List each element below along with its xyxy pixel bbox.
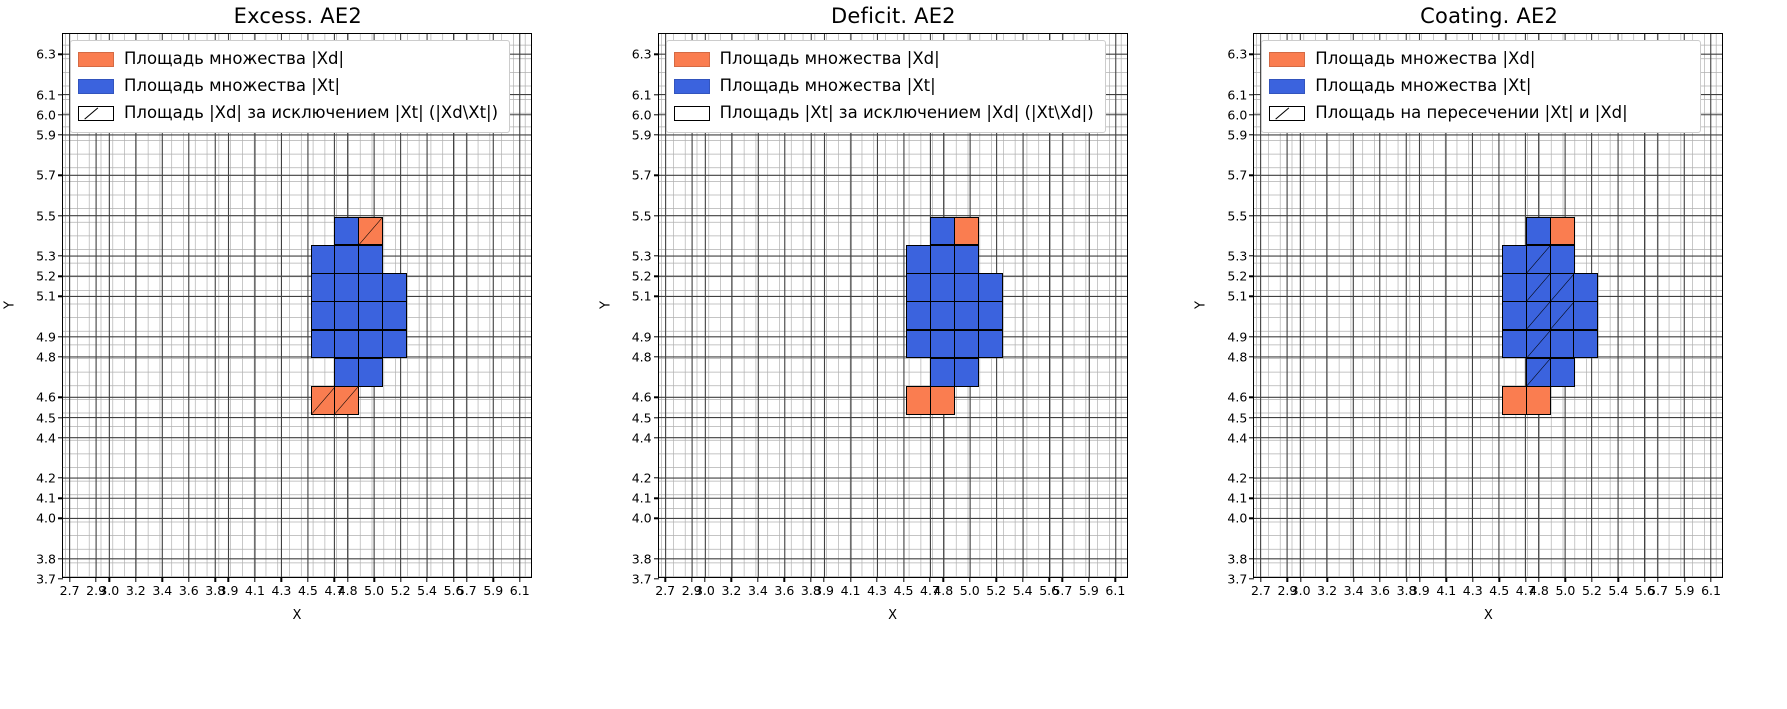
x-tick-mark: [823, 577, 824, 582]
data-cell: [358, 301, 383, 330]
y-tick-mark: [58, 276, 63, 277]
y-tick-label: 4.0: [36, 511, 56, 526]
y-tick-mark: [58, 175, 63, 176]
y-tick-label: 3.7: [36, 572, 56, 587]
data-cell: [1502, 386, 1527, 415]
x-tick-label: 5.9: [1675, 583, 1695, 598]
data-cell: [358, 330, 383, 359]
color-swatch-icon: [1269, 52, 1305, 67]
x-tick-mark: [307, 577, 308, 582]
data-cell: [1550, 330, 1575, 359]
legend-item[interactable]: Площадь множества |Xd|: [78, 46, 502, 73]
data-cell: [1550, 358, 1575, 387]
y-tick-label: 6.1: [1227, 87, 1247, 102]
y-tick-label: 3.8: [1227, 551, 1247, 566]
color-swatch-icon: [78, 79, 114, 94]
hatched-swatch-icon: [78, 106, 114, 121]
panel-2: Deficit. AE23.73.84.04.14.24.44.54.64.84…: [596, 0, 1192, 709]
x-tick-mark: [1684, 577, 1685, 582]
data-cell: [954, 330, 979, 359]
y-tick-label: 3.7: [1227, 572, 1247, 587]
x-tick-mark: [1260, 577, 1261, 582]
data-cell: [1550, 245, 1575, 274]
legend-label: Площадь множества |Xd|: [1315, 51, 1535, 68]
y-tick-label: 4.5: [36, 410, 56, 425]
x-tick-label: 3.6: [774, 583, 794, 598]
panel-1: Excess. AE23.73.84.04.14.24.44.54.64.84.…: [0, 0, 596, 709]
x-tick-label: 5.0: [364, 583, 384, 598]
data-cell: [906, 330, 931, 359]
legend-item[interactable]: Площадь множества |Xd|: [674, 46, 1098, 73]
x-tick-mark: [1062, 577, 1063, 582]
y-tick-mark: [654, 356, 659, 357]
panel-3: Coating. AE23.73.84.04.14.24.44.54.64.84…: [1191, 0, 1787, 709]
x-tick-mark: [1326, 577, 1327, 582]
legend-label: Площадь множества |Xt|: [1315, 78, 1531, 95]
y-tick-mark: [654, 94, 659, 95]
y-tick-mark: [1249, 498, 1254, 499]
y-tick-label: 4.2: [632, 471, 652, 486]
x-tick-label: 4.3: [867, 583, 887, 598]
y-tick-mark: [654, 558, 659, 559]
legend-item[interactable]: Площадь множества |Xt|: [78, 73, 502, 100]
x-tick-label: 5.2: [1582, 583, 1602, 598]
x-tick-label: 5.2: [986, 583, 1006, 598]
legend-label: Площадь множества |Xt|: [720, 78, 936, 95]
x-tick-mark: [466, 577, 467, 582]
x-tick-label: 5.9: [483, 583, 503, 598]
x-tick-mark: [1048, 577, 1049, 582]
y-tick-mark: [58, 356, 63, 357]
legend-label: Площадь |Xd| за исключением |Xt| (|Xd\Xt…: [124, 105, 498, 122]
y-tick-mark: [654, 255, 659, 256]
y-tick-label: 5.5: [632, 208, 652, 223]
data-cell: [954, 245, 979, 274]
x-tick-mark: [757, 577, 758, 582]
y-tick-label: 4.0: [1227, 511, 1247, 526]
y-tick-label: 5.9: [1227, 127, 1247, 142]
y-tick-mark: [654, 417, 659, 418]
y-tick-mark: [1249, 215, 1254, 216]
y-tick-label: 5.1: [632, 289, 652, 304]
y-tick-mark: [58, 498, 63, 499]
data-cell: [1526, 245, 1551, 274]
y-tick-mark: [1249, 114, 1254, 115]
data-cell: [358, 358, 383, 387]
legend-label: Площадь на пересечении |Xt| и |Xd|: [1315, 105, 1627, 122]
x-tick-label: 3.6: [1370, 583, 1390, 598]
y-tick-mark: [1249, 296, 1254, 297]
data-cell: [1502, 330, 1527, 359]
legend-item[interactable]: Площадь множества |Xd|: [1269, 46, 1693, 73]
figure-canvas: Excess. AE23.73.84.04.14.24.44.54.64.84.…: [0, 0, 1787, 709]
y-tick-mark: [654, 336, 659, 337]
x-axis-label: X: [62, 608, 532, 623]
y-tick-mark: [58, 53, 63, 54]
x-tick-mark: [810, 577, 811, 582]
plot-axes: 3.73.84.04.14.24.44.54.64.84.95.15.25.35…: [1253, 33, 1723, 578]
x-tick-mark: [373, 577, 374, 582]
y-tick-label: 6.0: [36, 107, 56, 122]
x-tick-mark: [704, 577, 705, 582]
y-tick-label: 4.6: [1227, 390, 1247, 405]
legend-item[interactable]: Площадь |Xd| за исключением |Xt| (|Xd\Xt…: [78, 100, 502, 127]
x-axis-label: X: [658, 608, 1128, 623]
y-axis-label: Y: [3, 301, 18, 309]
y-tick-mark: [58, 417, 63, 418]
x-tick-mark: [665, 577, 666, 582]
y-axis-label: Y: [598, 301, 613, 309]
legend-item[interactable]: Площадь множества |Xt|: [1269, 73, 1693, 100]
x-tick-mark: [519, 577, 520, 582]
y-tick-label: 6.0: [632, 107, 652, 122]
y-tick-label: 5.2: [632, 269, 652, 284]
x-tick-label: 4.5: [298, 583, 318, 598]
y-tick-mark: [654, 397, 659, 398]
x-tick-label: 5.4: [1608, 583, 1628, 598]
x-tick-mark: [929, 577, 930, 582]
x-tick-mark: [426, 577, 427, 582]
x-tick-label: 5.0: [960, 583, 980, 598]
color-swatch-icon: [1269, 79, 1305, 94]
data-cell: [311, 330, 336, 359]
x-tick-mark: [1472, 577, 1473, 582]
data-cell: [1550, 217, 1575, 246]
x-tick-label: 5.2: [391, 583, 411, 598]
x-tick-mark: [850, 577, 851, 582]
y-tick-mark: [654, 296, 659, 297]
y-tick-mark: [1249, 558, 1254, 559]
y-tick-label: 4.9: [36, 329, 56, 344]
data-cell: [334, 273, 359, 302]
data-cell: [334, 217, 359, 246]
y-axis-label: Y: [1194, 301, 1209, 309]
x-tick-mark: [1446, 577, 1447, 582]
y-tick-label: 5.9: [36, 127, 56, 142]
y-tick-label: 4.5: [1227, 410, 1247, 425]
hatch-overlay: [335, 387, 358, 414]
y-tick-label: 5.3: [36, 249, 56, 264]
hatch-overlay: [312, 387, 335, 414]
x-tick-label: 3.0: [1291, 583, 1311, 598]
x-tick-mark: [493, 577, 494, 582]
x-tick-mark: [1379, 577, 1380, 582]
y-tick-label: 6.0: [1227, 107, 1247, 122]
data-cell: [1526, 217, 1551, 246]
x-tick-mark: [1710, 577, 1711, 582]
x-tick-mark: [731, 577, 732, 582]
x-tick-label: 6.1: [1701, 583, 1721, 598]
y-tick-label: 5.5: [36, 208, 56, 223]
data-cell: [358, 245, 383, 274]
y-tick-mark: [654, 114, 659, 115]
y-tick-label: 3.7: [632, 572, 652, 587]
data-cell: [311, 386, 336, 415]
data-cell: [1502, 273, 1527, 302]
data-cell: [930, 330, 955, 359]
data-cell: [358, 273, 383, 302]
y-tick-mark: [1249, 134, 1254, 135]
x-tick-mark: [943, 577, 944, 582]
hatch-overlay: [359, 218, 382, 245]
panel-title: Deficit. AE2: [596, 4, 1192, 28]
y-tick-mark: [1249, 336, 1254, 337]
x-tick-label: 4.1: [245, 583, 265, 598]
x-tick-label: 5.0: [1555, 583, 1575, 598]
x-tick-label: 3.4: [152, 583, 172, 598]
data-cell: [382, 301, 407, 330]
data-cell: [1550, 273, 1575, 302]
y-tick-label: 5.7: [36, 168, 56, 183]
color-swatch-icon: [674, 52, 710, 67]
y-tick-label: 4.5: [632, 410, 652, 425]
x-tick-mark: [691, 577, 692, 582]
y-tick-mark: [1249, 578, 1254, 579]
x-tick-label: 3.2: [126, 583, 146, 598]
panel-title: Coating. AE2: [1191, 4, 1787, 28]
data-cell: [1573, 330, 1598, 359]
data-cell: [906, 245, 931, 274]
y-tick-mark: [654, 175, 659, 176]
data-cell: [334, 358, 359, 387]
legend-label: Площадь |Xt| за исключением |Xd| (|Xt\Xd…: [720, 105, 1094, 122]
x-tick-label: 5.4: [1013, 583, 1033, 598]
data-cell: [930, 386, 955, 415]
x-tick-mark: [281, 577, 282, 582]
x-tick-mark: [135, 577, 136, 582]
x-tick-mark: [1419, 577, 1420, 582]
y-tick-label: 6.3: [1227, 47, 1247, 62]
x-tick-mark: [996, 577, 997, 582]
y-tick-label: 4.2: [1227, 471, 1247, 486]
x-tick-mark: [1618, 577, 1619, 582]
x-tick-mark: [1115, 577, 1116, 582]
x-tick-mark: [109, 577, 110, 582]
y-tick-label: 5.2: [1227, 269, 1247, 284]
x-tick-label: 5.7: [457, 583, 477, 598]
y-tick-mark: [1249, 477, 1254, 478]
y-tick-label: 5.3: [1227, 249, 1247, 264]
x-tick-label: 3.9: [814, 583, 834, 598]
data-cell: [382, 273, 407, 302]
hatched-swatch-icon: [1269, 106, 1305, 121]
x-tick-label: 2.7: [60, 583, 80, 598]
y-tick-mark: [58, 114, 63, 115]
y-tick-mark: [58, 215, 63, 216]
data-cell: [1526, 386, 1551, 415]
x-tick-label: 3.9: [1410, 583, 1430, 598]
y-tick-mark: [58, 477, 63, 478]
x-tick-label: 4.1: [841, 583, 861, 598]
y-tick-label: 6.1: [36, 87, 56, 102]
data-cell: [334, 386, 359, 415]
x-tick-mark: [162, 577, 163, 582]
data-cell: [954, 358, 979, 387]
hatch-overlay: [1527, 274, 1550, 301]
data-cell: [1502, 301, 1527, 330]
x-tick-mark: [453, 577, 454, 582]
data-cell: [358, 217, 383, 246]
x-tick-mark: [215, 577, 216, 582]
y-tick-mark: [654, 215, 659, 216]
data-cell: [978, 301, 1003, 330]
x-tick-mark: [876, 577, 877, 582]
y-tick-mark: [58, 437, 63, 438]
y-tick-mark: [654, 53, 659, 54]
data-cell: [1526, 358, 1551, 387]
x-tick-mark: [1300, 577, 1301, 582]
x-tick-label: 3.4: [748, 583, 768, 598]
y-tick-mark: [58, 558, 63, 559]
y-tick-mark: [58, 518, 63, 519]
data-cell: [1502, 245, 1527, 274]
data-cell: [930, 245, 955, 274]
data-cell: [1526, 273, 1551, 302]
y-tick-mark: [58, 134, 63, 135]
y-tick-label: 4.4: [1227, 430, 1247, 445]
x-tick-label: 6.1: [1105, 583, 1125, 598]
x-tick-mark: [95, 577, 96, 582]
legend-label: Площадь множества |Xd|: [720, 51, 940, 68]
y-tick-mark: [1249, 175, 1254, 176]
legend-item[interactable]: Площадь множества |Xt|: [674, 73, 1098, 100]
x-tick-label: 4.1: [1436, 583, 1456, 598]
data-cell: [954, 217, 979, 246]
y-tick-label: 4.2: [36, 471, 56, 486]
x-tick-mark: [1499, 577, 1500, 582]
x-tick-mark: [1644, 577, 1645, 582]
data-cell: [311, 273, 336, 302]
y-tick-label: 4.6: [36, 390, 56, 405]
data-cell: [334, 301, 359, 330]
data-cell: [906, 386, 931, 415]
data-cell: [930, 358, 955, 387]
data-cell: [954, 273, 979, 302]
y-tick-mark: [1249, 356, 1254, 357]
panel-title: Excess. AE2: [0, 4, 596, 28]
data-cell: [930, 217, 955, 246]
y-tick-mark: [654, 134, 659, 135]
x-tick-mark: [188, 577, 189, 582]
x-tick-label: 5.7: [1052, 583, 1072, 598]
y-tick-label: 4.9: [632, 329, 652, 344]
data-cell: [906, 301, 931, 330]
y-tick-label: 5.3: [632, 249, 652, 264]
color-swatch-icon: [78, 52, 114, 67]
x-tick-label: 3.0: [99, 583, 119, 598]
data-cell: [382, 330, 407, 359]
y-tick-mark: [1249, 518, 1254, 519]
x-tick-label: 3.4: [1344, 583, 1364, 598]
chart-legend[interactable]: Площадь множества |Xd|Площадь множества …: [666, 40, 1106, 133]
x-tick-mark: [1538, 577, 1539, 582]
hatch-overlay: [1527, 302, 1550, 329]
legend-item[interactable]: Площадь на пересечении |Xt| и |Xd|: [1269, 100, 1693, 127]
x-tick-label: 4.8: [1529, 583, 1549, 598]
chart-legend[interactable]: Площадь множества |Xd|Площадь множества …: [1261, 40, 1701, 133]
y-tick-mark: [654, 477, 659, 478]
data-cell: [930, 273, 955, 302]
y-tick-label: 4.6: [632, 390, 652, 405]
x-tick-label: 5.9: [1079, 583, 1099, 598]
y-tick-mark: [1249, 437, 1254, 438]
hatch-overlay: [1551, 274, 1574, 301]
data-cell: [311, 245, 336, 274]
y-tick-mark: [58, 336, 63, 337]
x-tick-mark: [1525, 577, 1526, 582]
x-tick-label: 5.7: [1648, 583, 1668, 598]
y-tick-label: 5.7: [1227, 168, 1247, 183]
y-tick-mark: [654, 498, 659, 499]
data-cell: [978, 330, 1003, 359]
x-tick-mark: [784, 577, 785, 582]
y-tick-mark: [1249, 276, 1254, 277]
data-cell: [978, 273, 1003, 302]
x-tick-label: 4.3: [1463, 583, 1483, 598]
legend-label: Площадь множества |Xd|: [124, 51, 344, 68]
x-tick-label: 2.7: [1251, 583, 1271, 598]
plot-axes: 3.73.84.04.14.24.44.54.64.84.95.15.25.35…: [658, 33, 1128, 578]
x-tick-label: 4.3: [271, 583, 291, 598]
x-axis-label: X: [1253, 608, 1723, 623]
y-tick-label: 4.1: [1227, 491, 1247, 506]
legend-item[interactable]: Площадь |Xt| за исключением |Xd| (|Xt\Xd…: [674, 100, 1098, 127]
data-cell: [1526, 301, 1551, 330]
y-tick-mark: [58, 296, 63, 297]
x-tick-mark: [1406, 577, 1407, 582]
x-tick-mark: [1088, 577, 1089, 582]
x-tick-mark: [228, 577, 229, 582]
data-cell: [954, 301, 979, 330]
x-tick-label: 6.1: [510, 583, 530, 598]
data-cell: [930, 301, 955, 330]
empty-swatch-icon: [674, 106, 710, 121]
x-tick-label: 3.0: [695, 583, 715, 598]
y-tick-label: 4.9: [1227, 329, 1247, 344]
data-cell: [1526, 330, 1551, 359]
y-tick-mark: [1249, 94, 1254, 95]
hatch-overlay: [1527, 359, 1550, 386]
x-tick-label: 3.2: [721, 583, 741, 598]
x-tick-mark: [1657, 577, 1658, 582]
x-tick-mark: [969, 577, 970, 582]
x-tick-mark: [903, 577, 904, 582]
y-tick-label: 6.3: [632, 47, 652, 62]
x-tick-label: 4.5: [894, 583, 914, 598]
y-tick-label: 5.5: [1227, 208, 1247, 223]
y-tick-label: 4.1: [36, 491, 56, 506]
y-tick-mark: [58, 397, 63, 398]
legend-label: Площадь множества |Xt|: [124, 78, 340, 95]
y-tick-mark: [58, 578, 63, 579]
x-tick-mark: [334, 577, 335, 582]
data-cell: [334, 330, 359, 359]
x-tick-label: 4.5: [1489, 583, 1509, 598]
data-cell: [1573, 273, 1598, 302]
y-tick-label: 5.9: [632, 127, 652, 142]
y-tick-mark: [58, 255, 63, 256]
y-tick-mark: [1249, 417, 1254, 418]
y-tick-mark: [654, 518, 659, 519]
x-tick-mark: [1565, 577, 1566, 582]
y-tick-label: 4.1: [632, 491, 652, 506]
y-tick-label: 5.7: [632, 168, 652, 183]
chart-legend[interactable]: Площадь множества |Xd|Площадь множества …: [70, 40, 510, 133]
x-tick-mark: [1022, 577, 1023, 582]
x-tick-label: 2.7: [655, 583, 675, 598]
y-tick-mark: [654, 276, 659, 277]
x-tick-mark: [347, 577, 348, 582]
